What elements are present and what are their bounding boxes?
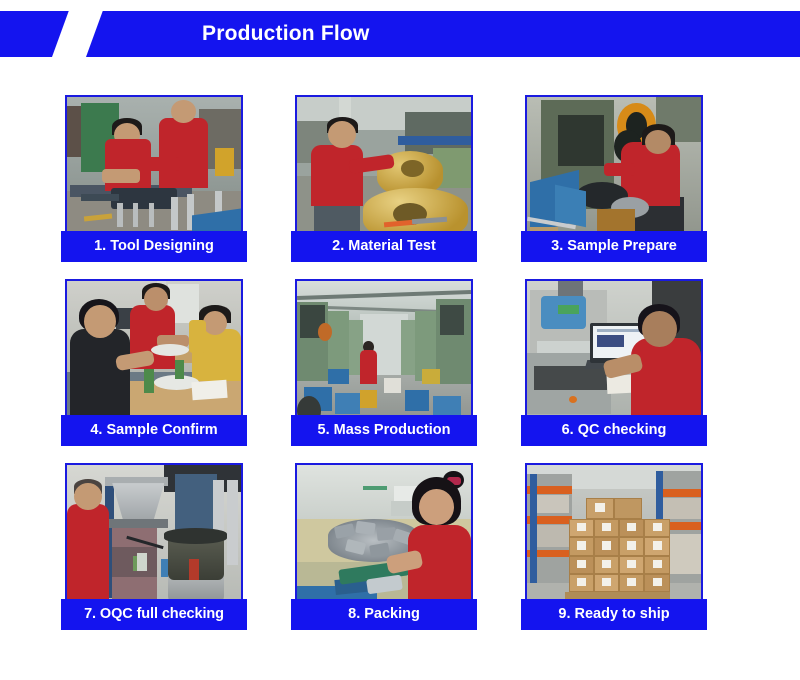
photo-mass-production bbox=[297, 281, 471, 432]
carton-shipping-label bbox=[602, 523, 611, 531]
step-photo-frame-9 bbox=[525, 463, 703, 618]
carton-shipping-label bbox=[577, 523, 586, 531]
carton-shipping-label bbox=[653, 560, 662, 568]
step-card-2[interactable]: 2. Material Test bbox=[295, 95, 473, 250]
step-photo-frame-7 bbox=[65, 463, 243, 618]
step-photo-frame-3 bbox=[525, 95, 703, 250]
carton-shipping-label bbox=[602, 578, 611, 586]
step-label-5: 5. Mass Production bbox=[291, 415, 477, 446]
production-step-grid: 1. Tool Designing 2. Mate bbox=[65, 95, 701, 618]
carton-shipping-label bbox=[602, 541, 611, 549]
step-photo-frame-8 bbox=[295, 463, 473, 618]
page-bottom-spacer bbox=[0, 648, 800, 680]
header-banner: Production Flow bbox=[0, 11, 800, 57]
step-card-9[interactable]: 9. Ready to ship bbox=[525, 463, 703, 618]
carton-shipping-label bbox=[627, 541, 636, 549]
carton-shipping-label bbox=[577, 560, 586, 568]
step-label-2: 2. Material Test bbox=[291, 231, 477, 262]
step-photo-frame-4 bbox=[65, 279, 243, 434]
photo-tool-designing bbox=[67, 97, 241, 248]
photo-qc-checking bbox=[527, 281, 701, 432]
step-card-1[interactable]: 1. Tool Designing bbox=[65, 95, 243, 250]
carton-shipping-label bbox=[653, 523, 662, 531]
step-photo-frame-1 bbox=[65, 95, 243, 250]
step-card-8[interactable]: 8. Packing bbox=[295, 463, 473, 618]
step-label-1: 1. Tool Designing bbox=[61, 231, 247, 262]
step-photo-frame-2 bbox=[295, 95, 473, 250]
photo-material-test bbox=[297, 97, 471, 248]
step-card-6[interactable]: 6. QC checking bbox=[525, 279, 703, 434]
carton-shipping-label bbox=[627, 523, 636, 531]
step-card-4[interactable]: 4. Sample Confirm bbox=[65, 279, 243, 434]
step-label-7: 7. OQC full checking bbox=[61, 599, 247, 630]
page-title: Production Flow bbox=[202, 11, 369, 57]
step-photo-frame-5 bbox=[295, 279, 473, 434]
carton-shipping-label bbox=[627, 578, 636, 586]
carton-shipping-label bbox=[602, 560, 611, 568]
photo-packing bbox=[297, 465, 471, 616]
step-card-3[interactable]: 3. Sample Prepare bbox=[525, 95, 703, 250]
production-flow-page: Production Flow bbox=[0, 0, 800, 680]
step-label-4: 4. Sample Confirm bbox=[61, 415, 247, 446]
step-photo-frame-6 bbox=[525, 279, 703, 434]
step-card-5[interactable]: 5. Mass Production bbox=[295, 279, 473, 434]
carton-shipping-label bbox=[577, 578, 586, 586]
carton-shipping-label bbox=[577, 541, 586, 549]
carton-shipping-label bbox=[653, 541, 662, 549]
step-label-6: 6. QC checking bbox=[521, 415, 707, 446]
step-label-3: 3. Sample Prepare bbox=[521, 231, 707, 262]
photo-sample-confirm bbox=[67, 281, 241, 432]
photo-sample-prepare bbox=[527, 97, 701, 248]
step-label-8: 8. Packing bbox=[291, 599, 477, 630]
photo-ready-to-ship bbox=[527, 465, 701, 616]
photo-oqc-full-checking bbox=[67, 465, 241, 616]
diagonal-slash-icon bbox=[49, 11, 105, 57]
carton-shipping-label bbox=[653, 578, 662, 586]
step-card-7[interactable]: 7. OQC full checking bbox=[65, 463, 243, 618]
step-label-9: 9. Ready to ship bbox=[521, 599, 707, 630]
carton-shipping-label bbox=[627, 560, 636, 568]
